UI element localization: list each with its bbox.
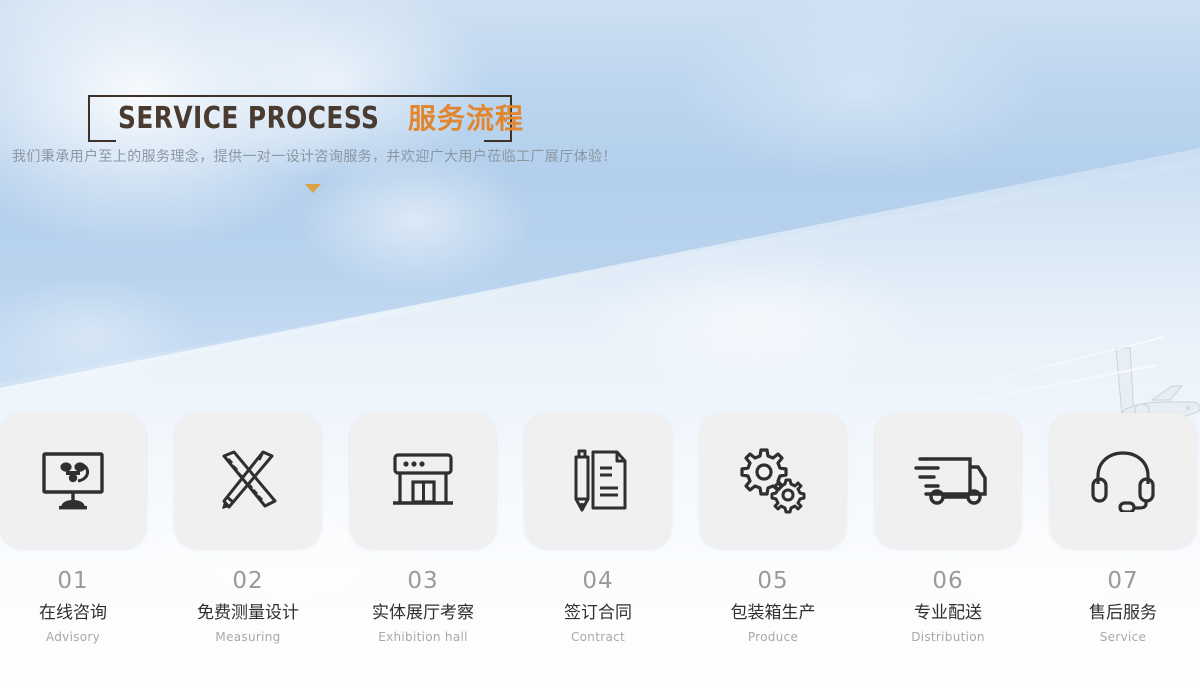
step-sublabel: Distribution xyxy=(911,631,985,643)
gears-icon xyxy=(737,448,809,514)
storefront-icon xyxy=(389,452,457,510)
service-step-list: 01 在线咨询 Advisory xyxy=(0,413,1200,643)
step-label: 售后服务 xyxy=(1089,605,1157,622)
step-label: 专业配送 xyxy=(914,605,982,622)
step-number: 06 xyxy=(932,570,963,593)
step-label: 签订合同 xyxy=(564,605,632,622)
step-label: 实体展厅考察 xyxy=(372,605,474,622)
monitor-phone-icon xyxy=(40,451,106,511)
service-step-02[interactable]: 02 免费测量设计 Measuring xyxy=(175,413,321,643)
step-icon-card[interactable] xyxy=(525,413,671,548)
ruler-pencil-icon xyxy=(215,449,281,513)
step-label: 在线咨询 xyxy=(39,605,107,622)
pen-document-icon xyxy=(567,448,629,514)
step-label: 包装箱生产 xyxy=(731,605,816,622)
step-number: 07 xyxy=(1107,570,1138,593)
step-number: 04 xyxy=(582,570,613,593)
service-step-06[interactable]: 06 专业配送 Distribution xyxy=(875,413,1021,643)
service-step-01[interactable]: 01 在线咨询 Advisory xyxy=(0,413,146,643)
service-process-banner: SERVICE PROCESS服务流程 我们秉承用户至上的服务理念，提供一对一设… xyxy=(0,0,1200,688)
frame-border-top xyxy=(88,95,512,97)
frame-border-bottom-left xyxy=(88,140,116,142)
step-icon-card[interactable] xyxy=(350,413,496,548)
service-step-04[interactable]: 04 签订合同 Contract xyxy=(525,413,671,643)
step-icon-card[interactable] xyxy=(700,413,846,548)
step-icon-card[interactable] xyxy=(1050,413,1196,548)
page-title-english: SERVICE PROCESS xyxy=(118,99,379,139)
frame-border-left xyxy=(88,95,90,142)
step-sublabel: Contract xyxy=(571,631,625,643)
step-sublabel: Exhibition hall xyxy=(378,631,468,643)
step-icon-card[interactable] xyxy=(175,413,321,548)
step-icon-card[interactable] xyxy=(0,413,146,548)
step-number: 05 xyxy=(757,570,788,593)
delivery-truck-icon xyxy=(908,453,988,509)
headset-icon xyxy=(1089,450,1157,512)
step-sublabel: Measuring xyxy=(215,631,280,643)
chevron-down-icon xyxy=(305,184,321,193)
step-label: 免费测量设计 xyxy=(197,605,299,622)
service-step-03[interactable]: 03 实体展厅考察 Exhibition hall xyxy=(350,413,496,643)
step-number: 01 xyxy=(57,570,88,593)
step-number: 02 xyxy=(232,570,263,593)
step-number: 03 xyxy=(407,570,438,593)
page-title-chinese: 服务流程 xyxy=(408,102,524,135)
step-sublabel: Service xyxy=(1100,631,1146,643)
page-subtitle: 我们秉承用户至上的服务理念，提供一对一设计咨询服务，并欢迎广大用户莅临工厂展厅体… xyxy=(12,146,617,166)
service-step-07[interactable]: 07 售后服务 Service xyxy=(1050,413,1196,643)
step-sublabel: Advisory xyxy=(46,631,100,643)
step-icon-card[interactable] xyxy=(875,413,1021,548)
step-sublabel: Produce xyxy=(748,631,798,643)
page-title: SERVICE PROCESS服务流程 xyxy=(118,99,524,144)
service-step-05[interactable]: 05 包装箱生产 Produce xyxy=(700,413,846,643)
